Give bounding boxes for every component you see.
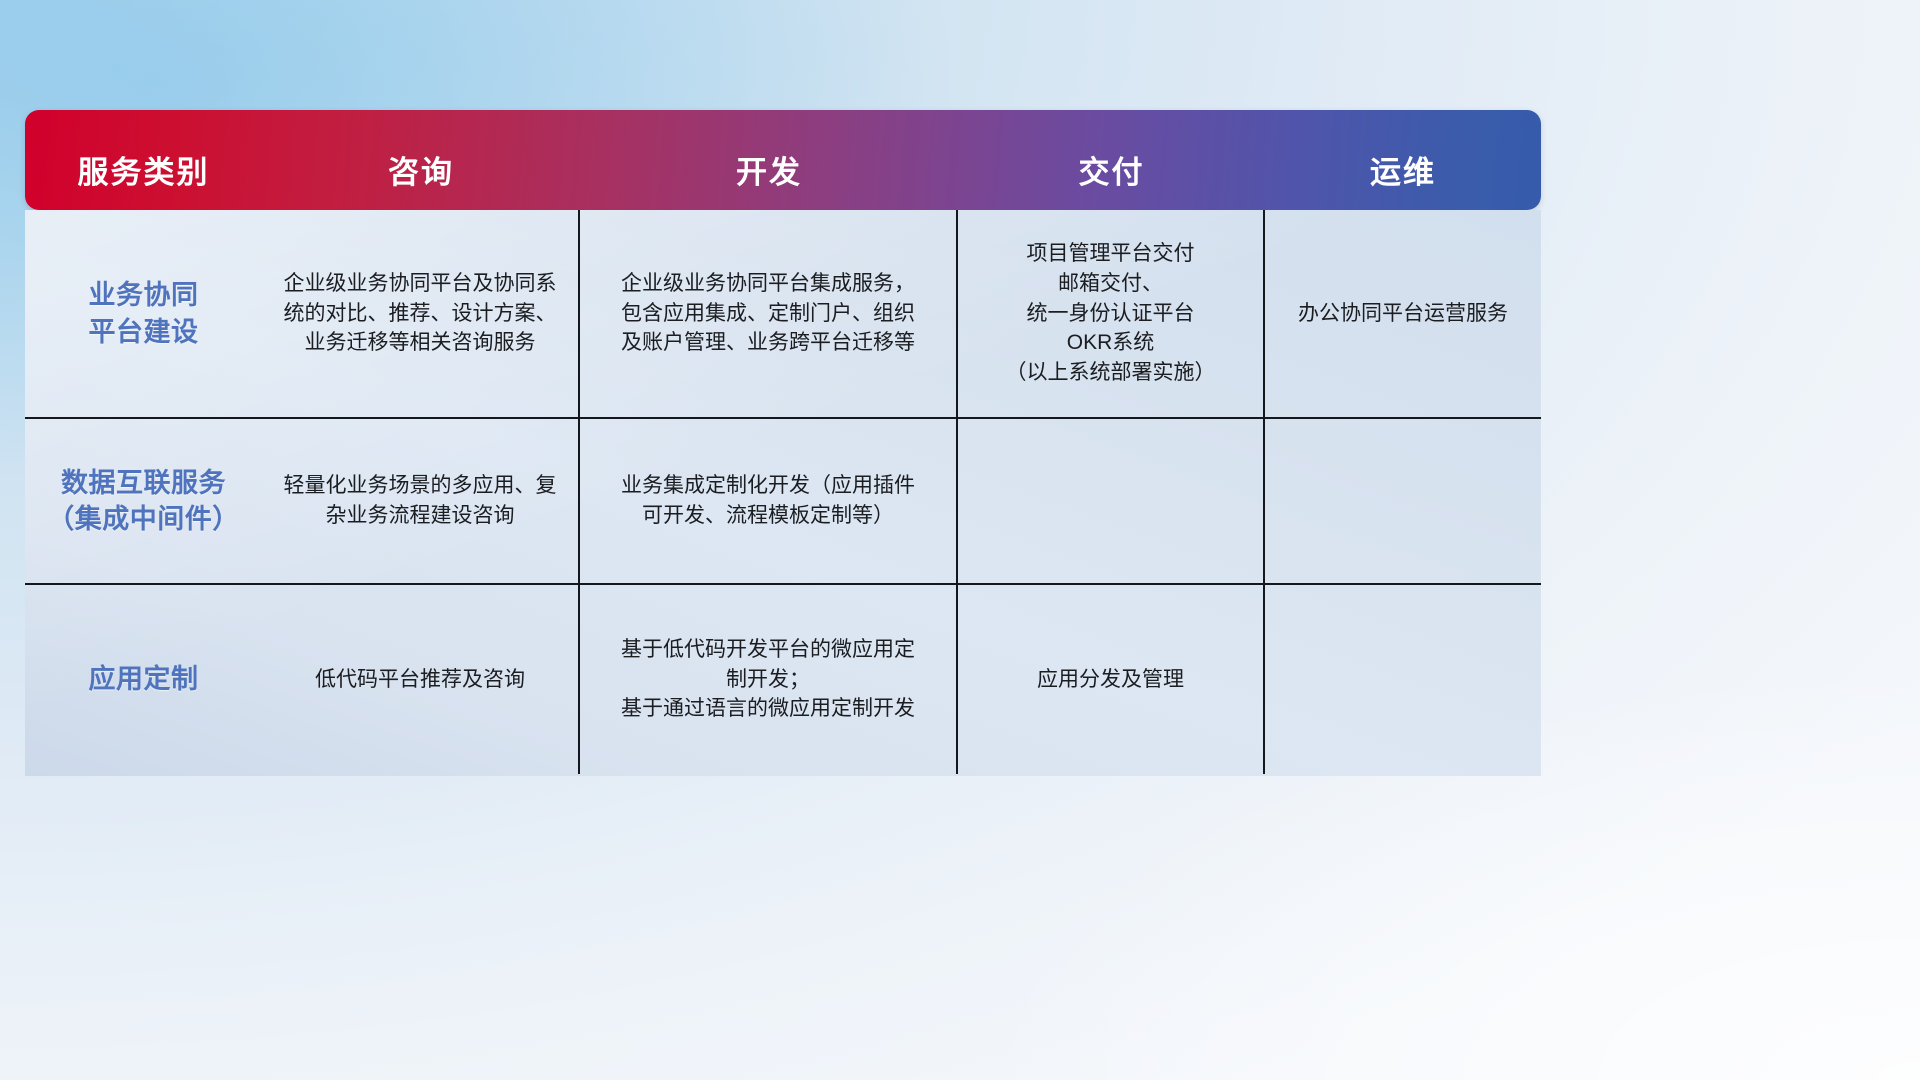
row-label-business-collaboration: 业务协同 平台建设: [25, 210, 262, 417]
cell-consulting: 企业级业务协同平台及协同系 统的对比、推荐、设计方案、 业务迁移等相关咨询服务: [262, 210, 580, 417]
row-label-app-customization: 应用定制: [25, 585, 262, 774]
table-header-row: 服务类别 咨询 开发 交付 运维: [25, 110, 1541, 210]
cell-consulting: 轻量化业务场景的多应用、复 杂业务流程建设咨询: [262, 419, 580, 583]
cell-operations: 办公协同平台运营服务: [1265, 210, 1541, 417]
column-header-development: 开发: [580, 110, 958, 210]
slide-background: 服务类别 咨询 开发 交付 运维 业务协同 平台建设 企业级业务协同平台及协同系…: [0, 0, 1920, 1080]
table-row: 数据互联服务 （集成中间件） 轻量化业务场景的多应用、复 杂业务流程建设咨询 业…: [25, 417, 1541, 583]
cell-operations: [1265, 585, 1541, 774]
cell-development: 企业级业务协同平台集成服务， 包含应用集成、定制门户、组织 及账户管理、业务跨平…: [580, 210, 958, 417]
cell-consulting: 低代码平台推荐及咨询: [262, 585, 580, 774]
cell-operations: [1265, 419, 1541, 583]
cell-delivery: [958, 419, 1265, 583]
cell-delivery: 项目管理平台交付 邮箱交付、 统一身份认证平台 OKR系统 （以上系统部署实施）: [958, 210, 1265, 417]
table-row: 业务协同 平台建设 企业级业务协同平台及协同系 统的对比、推荐、设计方案、 业务…: [25, 210, 1541, 417]
cell-development: 基于低代码开发平台的微应用定 制开发； 基于通过语言的微应用定制开发: [580, 585, 958, 774]
table-body: 业务协同 平台建设 企业级业务协同平台及协同系 统的对比、推荐、设计方案、 业务…: [25, 210, 1541, 776]
column-header-delivery: 交付: [958, 110, 1265, 210]
cell-development: 业务集成定制化开发（应用插件 可开发、流程模板定制等）: [580, 419, 958, 583]
service-matrix-table: 服务类别 咨询 开发 交付 运维 业务协同 平台建设 企业级业务协同平台及协同系…: [25, 110, 1541, 776]
cell-delivery: 应用分发及管理: [958, 585, 1265, 774]
column-header-consulting: 咨询: [262, 110, 580, 210]
table-row: 应用定制 低代码平台推荐及咨询 基于低代码开发平台的微应用定 制开发； 基于通过…: [25, 583, 1541, 774]
column-header-operations: 运维: [1265, 110, 1541, 210]
row-label-data-interconnect: 数据互联服务 （集成中间件）: [25, 419, 262, 583]
column-header-category: 服务类别: [25, 110, 262, 210]
